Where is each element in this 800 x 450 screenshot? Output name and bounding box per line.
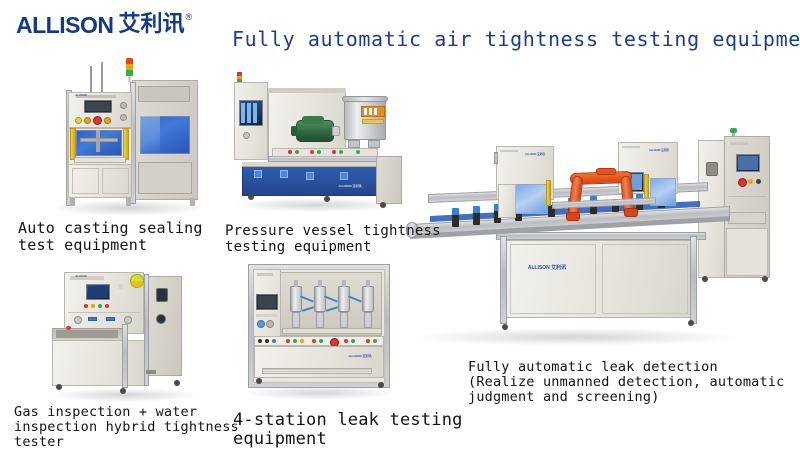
control-knob[interactable] (243, 132, 250, 139)
indicator-light (373, 339, 377, 343)
cabinet-fan-grille (706, 162, 718, 176)
product-caption-four-station: 4-station leak testing equipment (233, 411, 463, 449)
guide-post (644, 174, 649, 200)
guide-post (123, 128, 129, 160)
switch-knob[interactable] (120, 102, 127, 109)
indicator-light (91, 304, 95, 308)
test-cylinder (338, 286, 350, 312)
test-fixture (473, 212, 480, 225)
indicator-light (748, 179, 753, 184)
machine-brand-mark: ALLISON 艾利讯 (522, 264, 572, 271)
indicator-light (319, 339, 323, 343)
badge-icon (130, 274, 144, 288)
machine-brand-mark: ALLISON (68, 275, 94, 278)
test-cylinder (314, 286, 326, 312)
indicator-light (104, 117, 111, 124)
logo-text-en: ALLISON (16, 14, 113, 37)
emergency-stop-button[interactable] (738, 178, 747, 187)
indicator-light (286, 339, 290, 343)
machine-brand-mark: ALLISON 艾利讯 (646, 148, 672, 152)
switch-toggle[interactable] (106, 317, 115, 321)
machine-brand-mark: ALLISON 艾利讯 (522, 152, 548, 156)
indicator-light (293, 339, 297, 343)
machine-brand-mark: ALLISON (70, 94, 92, 97)
guide-post (546, 180, 551, 206)
product-image-four-station: ALLISON 艾利讯 (238, 258, 400, 404)
machine-brand-mark: ALLISON 艾利讯 (332, 184, 368, 188)
control-knob[interactable] (257, 320, 265, 328)
allison-logo: ALLISON 艾利讯 ® (16, 14, 192, 37)
page-title: Fully automatic air tightness testing eq… (232, 27, 800, 51)
indicator-light (75, 117, 82, 124)
indicator-light (258, 339, 262, 343)
vent-grille (262, 368, 372, 374)
product-caption-gas-water-hybrid: Gas inspection + water inspection hybrid… (14, 405, 239, 450)
indicator-light (300, 339, 304, 343)
test-fixture (452, 214, 459, 227)
control-knob[interactable] (124, 316, 132, 324)
control-knob[interactable] (266, 320, 274, 328)
product-image-automatic-leak-line: ALLISON 艾利讯 A (400, 128, 798, 356)
product-caption-auto-casting-sealing: Auto casting sealing test equipment (18, 220, 203, 254)
control-knob[interactable] (74, 316, 82, 324)
indicator-light (366, 339, 370, 343)
emergency-stop-button[interactable] (93, 116, 102, 125)
test-cylinder (362, 286, 374, 312)
product-image-gas-water-hybrid: ALLISON (46, 262, 206, 402)
indicator-light (351, 339, 355, 343)
registered-trademark-icon: ® (185, 12, 192, 22)
indicator-light (344, 339, 348, 343)
indicator-light (105, 304, 109, 308)
indicator-light (265, 339, 269, 343)
product-caption-pressure-vessel: Pressure vessel tightness testing equipm… (225, 224, 441, 255)
indicator-light (272, 339, 276, 343)
viewing-window (514, 184, 548, 214)
test-cylinder (290, 286, 302, 312)
machine-brand-mark: ALLISON 艾利讯 (342, 354, 378, 358)
switch-knob[interactable] (120, 114, 127, 121)
bench-front-panel (242, 162, 388, 196)
indicator-light (84, 304, 88, 308)
product-banner: ALLISON 艾利讯 ® Fully automatic air tightn… (0, 0, 800, 450)
product-image-auto-casting-sealing: ALLISON (46, 58, 208, 216)
control-knob[interactable] (756, 179, 761, 184)
indicator-light (84, 117, 91, 124)
product-image-pressure-vessel: ALLISON 艾利讯 (228, 72, 404, 214)
indicator-light (312, 339, 316, 343)
product-caption-automatic-leak-line: Fully automatic leak detection (Realize … (468, 360, 784, 405)
logo-text-cn: 艾利讯 (118, 14, 184, 36)
indicator-light (98, 304, 102, 308)
guide-post (70, 128, 76, 160)
switch-toggle[interactable] (88, 317, 97, 321)
